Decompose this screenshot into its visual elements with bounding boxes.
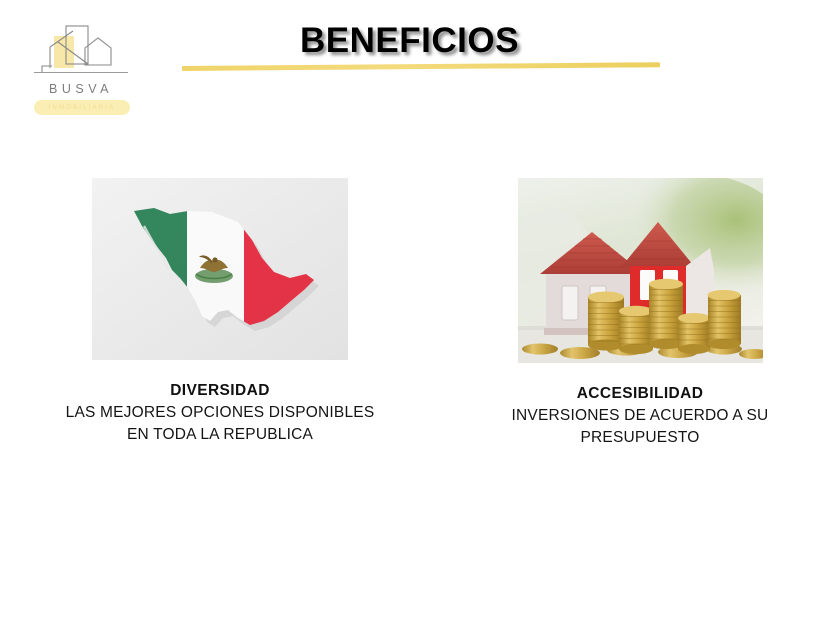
- brand-tagline: INMOBILIARIA: [49, 105, 116, 111]
- benefit-column-diversidad: DIVERSIDAD LAS MEJORES OPCIONES DISPONIB…: [18, 178, 422, 446]
- building-outline-icon: [28, 22, 134, 84]
- benefit-title: ACCESIBILIDAD: [456, 383, 824, 405]
- house-and-coins-image: [518, 178, 763, 363]
- mexico-flag-map-image: [92, 178, 348, 360]
- benefit-body-line-2: PRESUPUESTO: [456, 427, 824, 449]
- page-title: BENEFICIOS: [300, 21, 519, 61]
- benefit-body-line-1: LAS MEJORES OPCIONES DISPONIBLES: [18, 402, 422, 424]
- brand-tagline-pill: INMOBILIARIA: [34, 100, 130, 115]
- title-underline-rule: [182, 62, 660, 71]
- benefit-column-accesibilidad: ACCESIBILIDAD INVERSIONES DE ACUERDO A S…: [456, 178, 824, 449]
- slide-canvas: BUSVA INMOBILIARIA BENEFICIOS: [0, 0, 840, 630]
- brand-name: BUSVA: [28, 82, 134, 96]
- benefit-title: DIVERSIDAD: [18, 380, 422, 402]
- brand-logo: BUSVA INMOBILIARIA: [28, 22, 134, 122]
- benefit-body-line-1: INVERSIONES DE ACUERDO A SU: [456, 405, 824, 427]
- benefit-body-line-2: EN TODA LA REPUBLICA: [18, 424, 422, 446]
- benefit-caption-accesibilidad: ACCESIBILIDAD INVERSIONES DE ACUERDO A S…: [456, 383, 824, 449]
- benefit-caption-diversidad: DIVERSIDAD LAS MEJORES OPCIONES DISPONIB…: [18, 380, 422, 446]
